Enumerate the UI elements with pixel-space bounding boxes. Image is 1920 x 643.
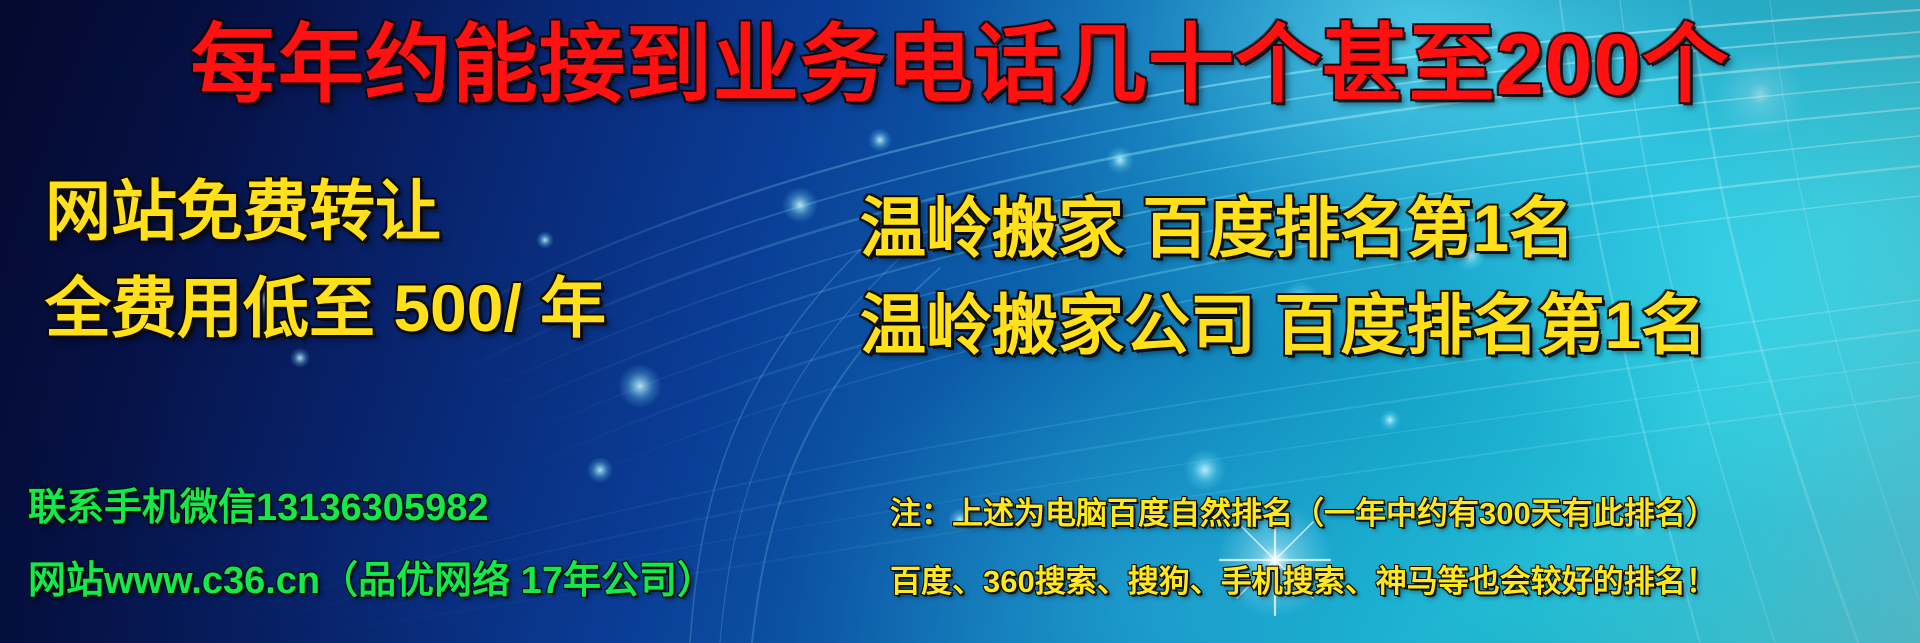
ranking-line-wenling-moving: 温岭搬家 百度排名第1名 — [860, 195, 1575, 261]
promo-banner: 每年约能接到业务电话几十个甚至200个 网站免费转让 全费用低至 500/ 年 … — [0, 0, 1920, 643]
offer-line-free-transfer: 网站免费转让 — [45, 178, 441, 244]
contact-website[interactable]: 网站www.c36.cn（品优网络 17年公司） — [28, 562, 715, 600]
footnote-search-engines: 百度、360搜索、搜狗、手机搜索、神马等也会较好的排名！ — [890, 566, 1717, 597]
headline: 每年约能接到业务电话几十个甚至200个 — [191, 22, 1730, 108]
ranking-line-wenling-moving-company: 温岭搬家公司 百度排名第1名 — [860, 292, 1707, 358]
footnote-natural-ranking: 注：上述为电脑百度自然排名（一年中约有300天有此排名） — [890, 498, 1717, 529]
contact-phone-wechat[interactable]: 联系手机微信13136305982 — [28, 489, 488, 527]
offer-line-price: 全费用低至 500/ 年 — [45, 275, 606, 341]
